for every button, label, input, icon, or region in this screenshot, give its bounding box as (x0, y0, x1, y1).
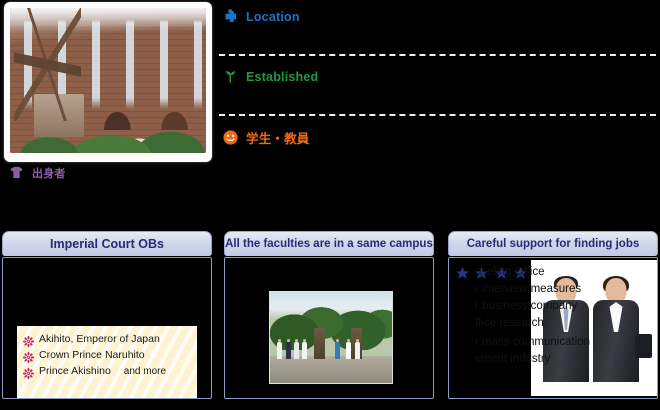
sprout-icon (222, 68, 239, 85)
building-icon (222, 8, 239, 25)
panel-2-title: All the faculties are in a same campus (224, 231, 434, 256)
row-location-label: Location (246, 10, 300, 24)
list-item-line: r business company (475, 300, 655, 313)
panel-1-body: Akihito, Emperor of Japan (2, 257, 212, 399)
divider-1 (219, 54, 656, 56)
list-item: Crown Prince Naruhito (23, 349, 193, 361)
person-figure (355, 342, 360, 359)
panel-job-support: Careful support for finding jobs (448, 231, 658, 399)
shirt-icon (8, 164, 25, 181)
row-alumni-label: 出身者 (32, 165, 66, 181)
panel-3-title: Careful support for finding jobs (448, 231, 658, 256)
list-item-name: Prince Akishino (39, 365, 111, 377)
person-figure (294, 342, 299, 359)
tree-shape (14, 8, 81, 121)
row-established: Established (222, 68, 318, 85)
chrysanthemum-icon (23, 350, 34, 361)
list-item-name: Crown Prince Naruhito (39, 349, 145, 361)
row-students-label: 学生・教員 (246, 128, 310, 147)
person-figure (302, 342, 307, 359)
list-item: Akihito, Emperor of Japan (23, 333, 193, 345)
panel-same-campus: All the faculties are in a same campus (224, 231, 434, 399)
job-support-list: nseling Office r interview measures r bu… (475, 266, 655, 372)
person-figure (335, 342, 340, 359)
foliage-shape (10, 110, 206, 154)
list-item-name: Akihito, Emperor of Japan (39, 333, 160, 345)
campus-building-photo-image (10, 8, 206, 153)
panel-imperial-court-obs: Imperial Court OBs (2, 231, 212, 399)
person-figure (346, 342, 351, 359)
row-alumni: 出身者 (8, 164, 66, 181)
star-icon (455, 268, 474, 285)
list-item-subline: ffice research (475, 317, 655, 330)
gate-pillar-left (314, 328, 325, 359)
divider-2 (219, 114, 656, 116)
chrysanthemum-icon (23, 366, 34, 377)
photo-base-shape (531, 382, 657, 396)
panel-1-title: Imperial Court OBs (2, 231, 212, 256)
list-item-line: r interview measures (475, 283, 655, 296)
chrysanthemum-icon (23, 334, 34, 345)
person-figure (277, 342, 282, 359)
smiley-icon (222, 129, 239, 146)
imperial-name-list: Akihito, Emperor of Japan (17, 326, 197, 399)
gate-ground-shape (270, 356, 392, 383)
panel-3-body: nseling Office r interview measures r bu… (448, 257, 658, 399)
person-figure (286, 342, 291, 359)
row-students: 学生・教員 (222, 128, 310, 147)
campus-building-photo (4, 2, 212, 162)
list-item-line: r mass communication (475, 336, 655, 349)
campus-gate-photo (269, 291, 393, 384)
panel-2-body (224, 257, 434, 399)
row-location: Location (222, 8, 300, 25)
row-established-label: Established (246, 70, 318, 84)
list-item-suffix: and more (124, 366, 166, 377)
list-item-line: nseling Office (475, 266, 655, 279)
list-item: Prince Akishino and more (23, 365, 193, 377)
list-item-subline: ement industry (475, 353, 655, 366)
